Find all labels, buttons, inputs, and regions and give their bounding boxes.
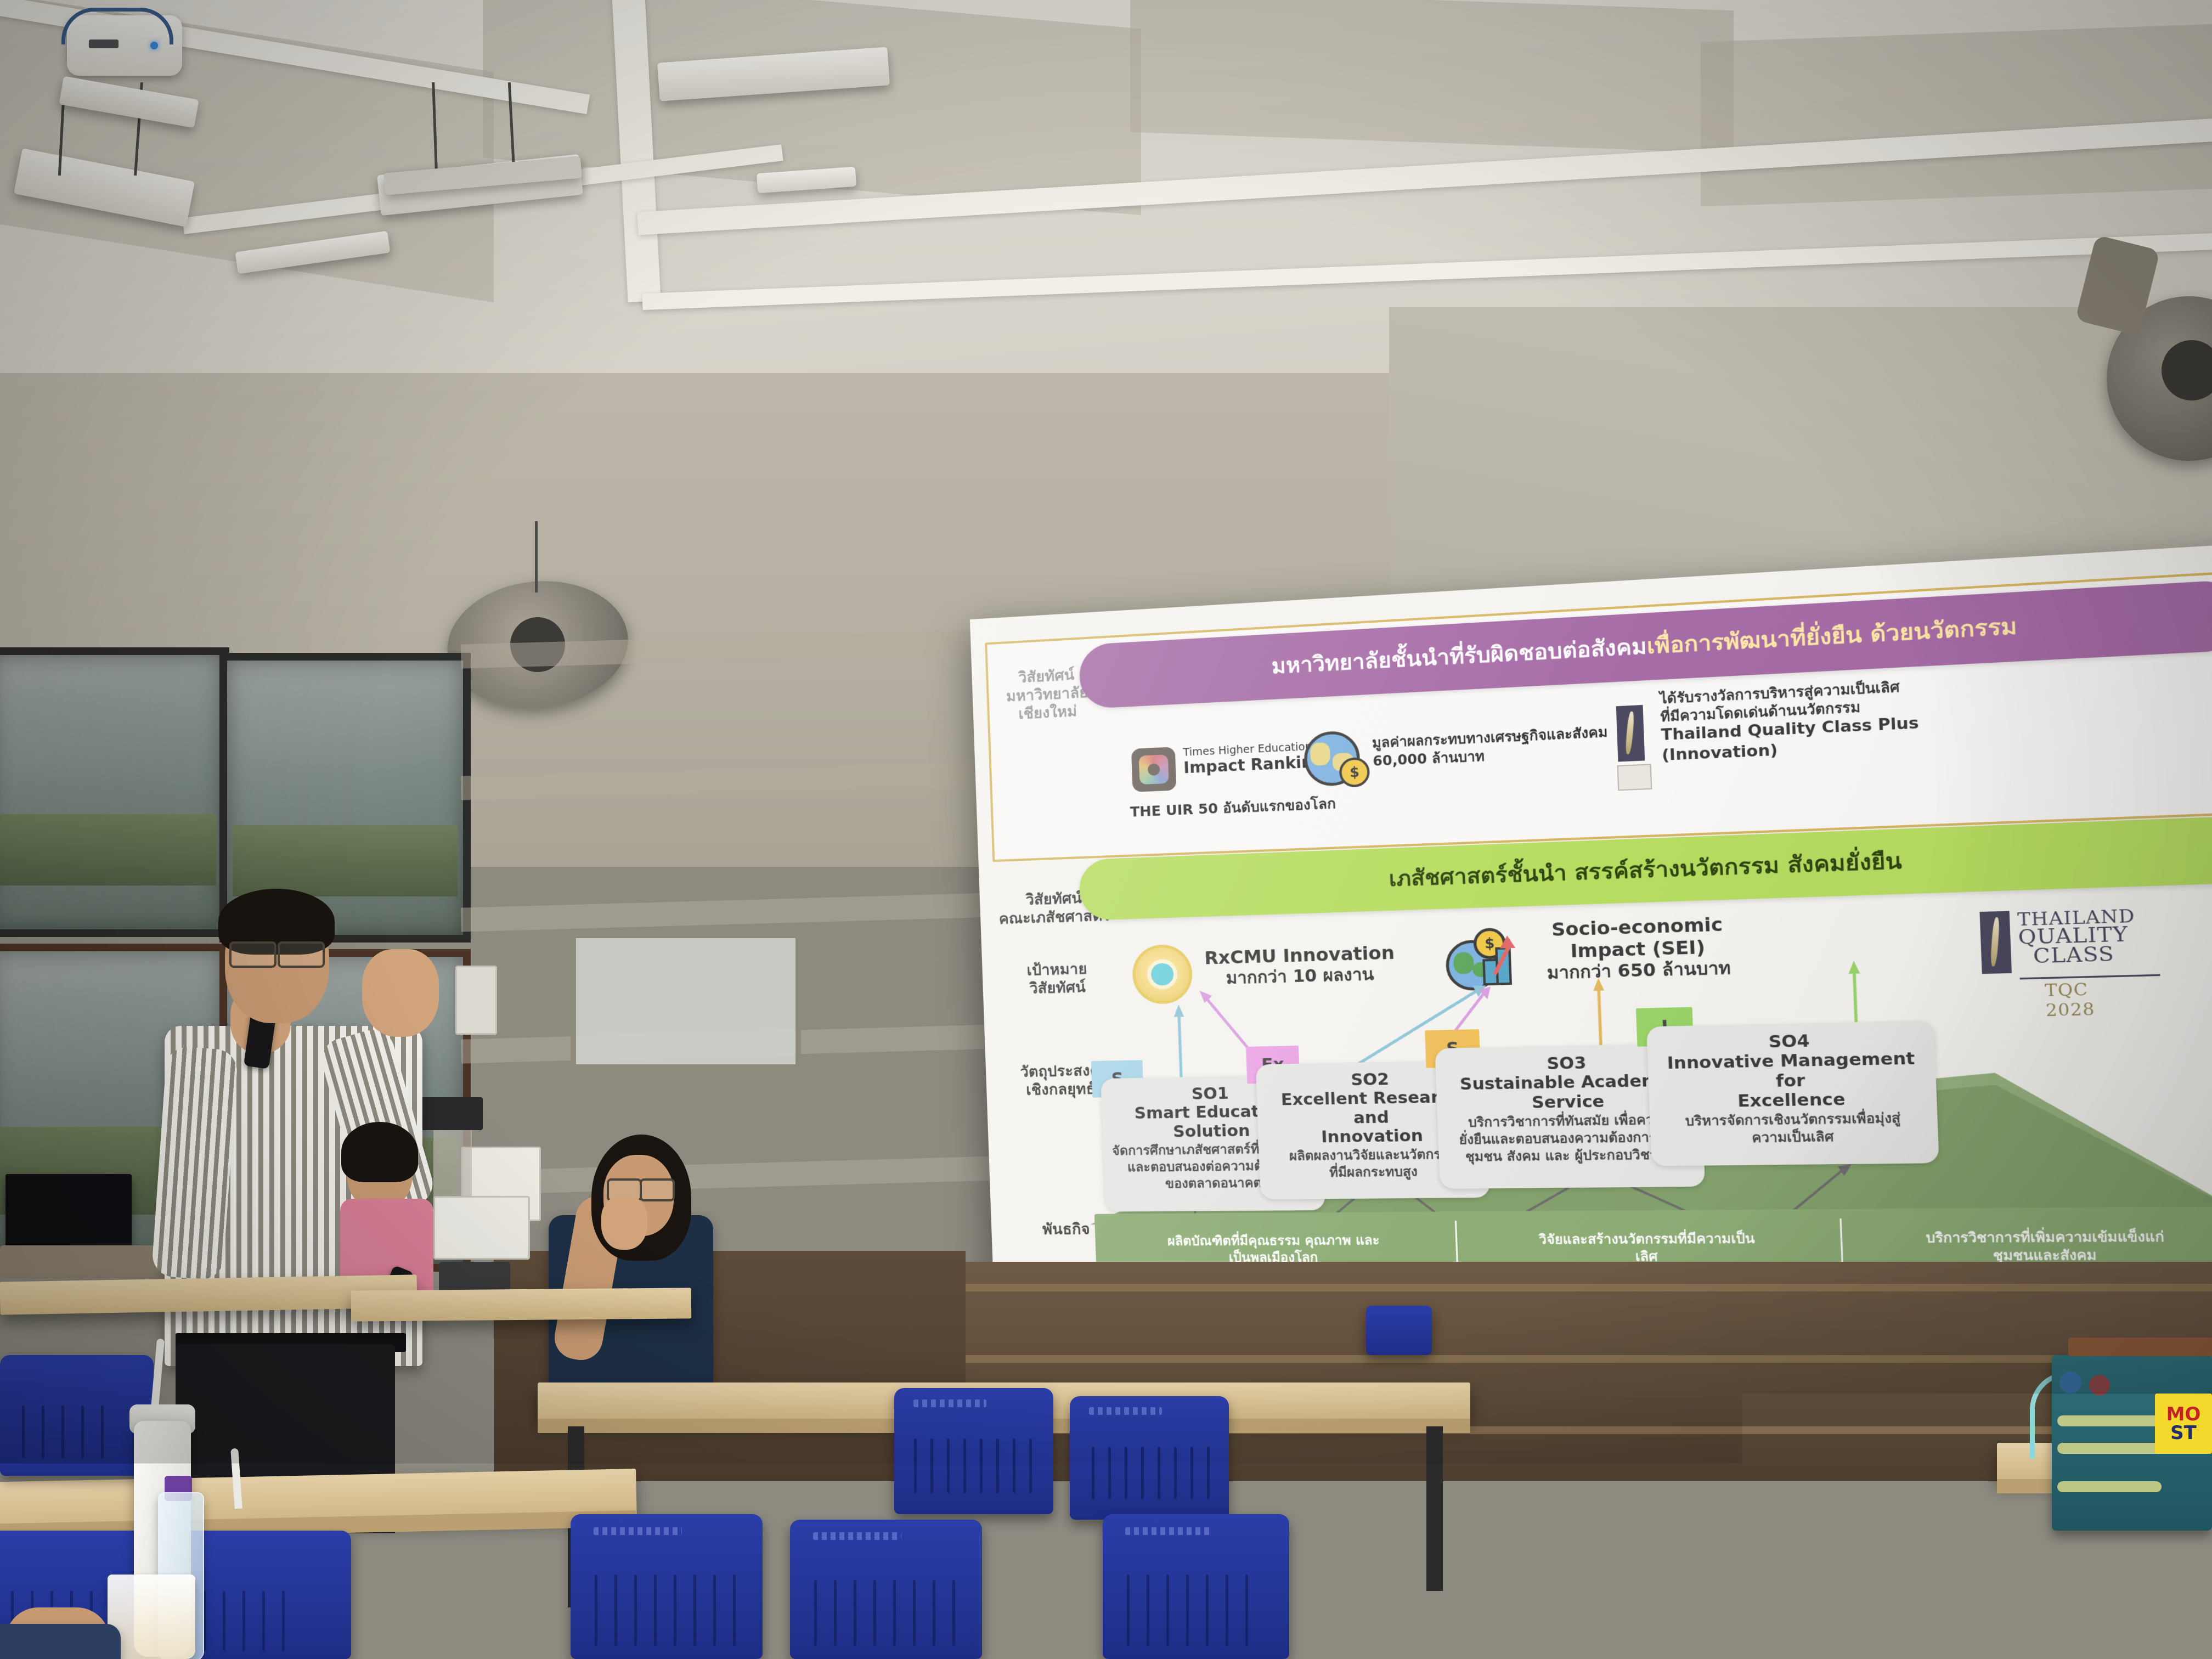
ceiling-panel	[1701, 24, 2212, 206]
wall-slat	[461, 891, 1037, 932]
crate-label-line1: MO	[2166, 1405, 2201, 1424]
university-vision-highlight: เพื่อการพัฒนาที่ยั่งยืน ด้วยนวัตกรรม	[1646, 614, 2018, 659]
wall-slat	[461, 1155, 1037, 1195]
av-panel	[433, 1196, 530, 1260]
wall-slat	[933, 1284, 2212, 1291]
chair-marking	[913, 1400, 986, 1407]
foreground-shoulder	[0, 1624, 121, 1659]
ceiling-panel	[1130, 0, 1734, 153]
fan-rod	[535, 521, 538, 592]
chair-marking	[594, 1527, 682, 1535]
so4-title: Innovative Management for Excellence	[1654, 1048, 1931, 1112]
classroom-scene: วิสัยทัศน์ มหาวิทยาลัย เชียงใหม่ วิสัยทั…	[0, 0, 2212, 1659]
times-higher-education-logo	[1131, 747, 1177, 792]
goal-rxcmu-innovation: RxCMU Innovation มากกว่า 10 ผลงาน	[1196, 942, 1404, 989]
chair-marking	[813, 1532, 901, 1540]
crate-label: MO ST	[2155, 1393, 2212, 1454]
wall-slat	[933, 1355, 2212, 1363]
innovation-bulb-icon	[1132, 944, 1193, 1005]
tqc-mark-icon	[1979, 911, 2012, 974]
person-hair	[341, 1122, 418, 1182]
projection-screen: วิสัยทัศน์ มหาวิทยาลัย เชียงใหม่ วิสัยทั…	[970, 540, 2212, 1306]
tqc-year: TQC 2028	[2045, 979, 2096, 1020]
chair	[790, 1520, 982, 1659]
presentation-slide: วิสัยทัศน์ มหาวิทยาลัย เชียงใหม่ วิสัยทั…	[970, 540, 2212, 1306]
table-leg	[1426, 1426, 1443, 1591]
presenter-raised-hand	[362, 949, 439, 1037]
light-switch-panel	[455, 966, 497, 1035]
ap-cable	[61, 8, 173, 44]
chair	[571, 1514, 763, 1659]
so4-card: SO4 Innovative Management for Excellence…	[1646, 1020, 1939, 1166]
chair	[2030, 1580, 2212, 1659]
chair-marking	[1089, 1407, 1162, 1415]
whiteboard	[571, 933, 801, 1070]
chair	[1070, 1396, 1229, 1520]
growth-arrowhead-icon	[1499, 935, 1515, 949]
table	[351, 1288, 691, 1321]
socio-economic-impact-icon: $	[1444, 929, 1518, 989]
row-label-vision-goal: เป้าหมาย วิสัยทัศน์	[1002, 960, 1113, 999]
tqa-sublogo	[1617, 764, 1652, 791]
tqc-word-class: CLASS	[2033, 945, 2137, 967]
desk-clutter	[0, 1245, 165, 1278]
monitor	[5, 1174, 132, 1256]
chair-marking	[1125, 1527, 1211, 1535]
thailand-quality-award-mark	[1616, 705, 1645, 762]
av-equipment	[417, 1097, 483, 1130]
presenter-glasses	[278, 941, 325, 968]
chair	[1366, 1306, 1432, 1355]
crate-lid	[2068, 1338, 2212, 1356]
goal-socio-economic-impact: Socio-economic Impact (SEI) มากกว่า 650 …	[1516, 913, 1762, 984]
chair	[894, 1388, 1053, 1514]
presenter-glasses	[229, 941, 276, 968]
window	[0, 647, 229, 937]
chair	[1103, 1514, 1289, 1659]
person-glasses	[640, 1178, 675, 1201]
so4-thai: บริหารจัดการเชิงนวัตกรรมเพื่อมุ่งสู่ ควา…	[1656, 1110, 1932, 1149]
crate-label-line2: ST	[2170, 1424, 2197, 1442]
dessert-cup	[108, 1575, 195, 1659]
person-hand	[601, 1196, 647, 1250]
university-vision-text: มหาวิทยาลัยชั้นนำที่รับผิดชอบต่อสังคม	[1271, 635, 1647, 679]
